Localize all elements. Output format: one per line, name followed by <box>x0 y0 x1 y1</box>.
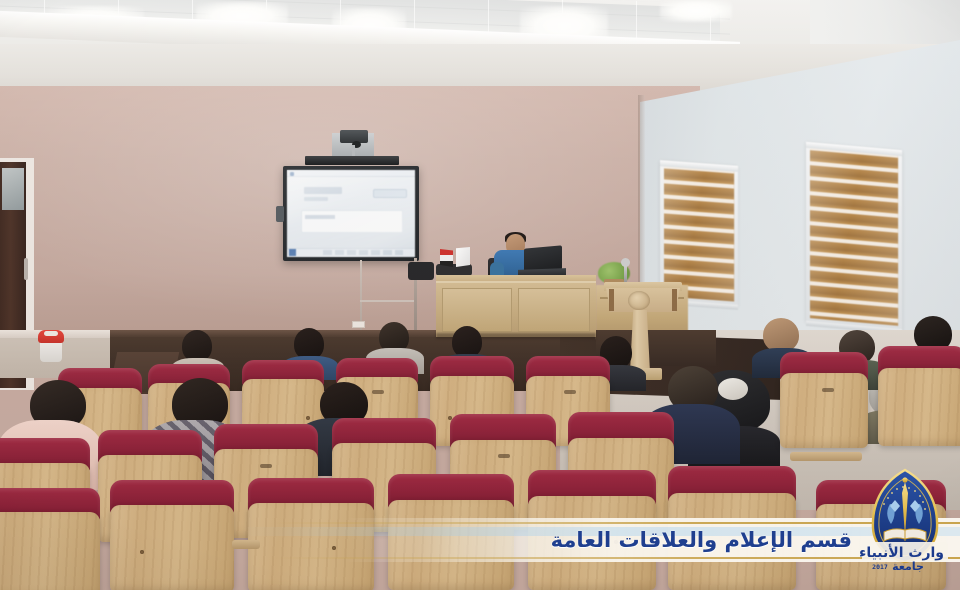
soundbar <box>305 156 399 165</box>
seat-grain <box>780 373 868 448</box>
screen-cable <box>360 260 362 330</box>
lecture-hall-photograph: قسم الإعلام والعلاقات العامة <box>0 0 960 590</box>
seat-slot <box>822 388 834 392</box>
podium-trim-right <box>672 289 677 311</box>
podium-emblem-icon <box>628 291 650 310</box>
whiteboard-side-button[interactable] <box>276 206 284 222</box>
screen-button-block <box>373 189 407 198</box>
banner-rule-top <box>0 522 960 524</box>
logo-arabic-subtitle: جامعة <box>892 560 924 573</box>
seat-slot <box>260 464 272 468</box>
media-department-banner: قسم الإعلام والعلاقات العامة <box>0 518 960 562</box>
university-logo: وارث الأنبياء جامعة 2017 <box>856 466 954 574</box>
screen-content-card <box>301 210 403 233</box>
side-chair <box>408 262 434 280</box>
logo-year: 2017 <box>872 563 888 571</box>
seat-row3-8[interactable] <box>878 346 960 446</box>
seat-slot <box>564 390 576 394</box>
iraq-flag-icon <box>440 249 453 267</box>
podium-trim-left <box>609 289 614 311</box>
microphone-icon <box>621 258 630 267</box>
seat-grain <box>878 368 960 446</box>
trash-bin-slot <box>44 331 58 336</box>
white-flag-icon <box>456 247 470 267</box>
screen-browser-toolbar <box>287 170 415 177</box>
armrest-row2 <box>790 452 862 461</box>
banner-title: قسم الإعلام والعلاقات العامة <box>551 528 852 552</box>
screen-browser-icon <box>290 172 294 176</box>
seat-slot <box>498 454 510 458</box>
logo-finial <box>902 477 907 482</box>
screen-taskbar-items <box>323 250 403 255</box>
window-near <box>806 142 902 330</box>
projection-screen[interactable] <box>287 170 415 257</box>
screen-subheading-block <box>304 197 328 201</box>
seat-row3-7[interactable] <box>780 352 868 448</box>
wall-conduit <box>360 300 416 302</box>
door-glass-panel <box>2 168 24 210</box>
banner-rule-bottom <box>0 557 960 559</box>
blind-sheen <box>664 164 734 301</box>
door-handle[interactable] <box>24 258 28 280</box>
screen-heading-block <box>304 187 342 194</box>
wall-socket <box>352 321 365 328</box>
blind-sheen <box>810 146 898 326</box>
screen-start-icon <box>289 249 296 256</box>
screen-card-line <box>305 215 335 219</box>
trash-bin <box>40 340 62 362</box>
head <box>763 318 799 352</box>
ceiling-light-5 <box>660 0 732 22</box>
logo-arabic-name: وارث الأنبياء <box>859 544 944 561</box>
desk-panel-right <box>518 288 590 332</box>
